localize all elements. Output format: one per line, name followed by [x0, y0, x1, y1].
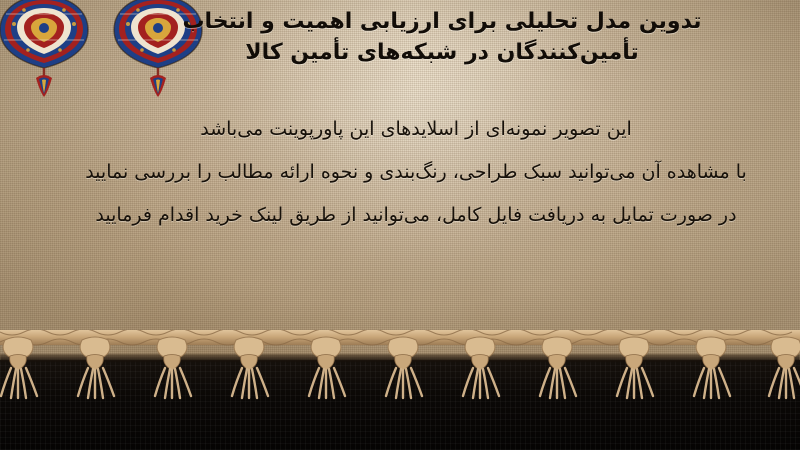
slide-title-line-2: تأمین‌کنندگان در شبکه‌های تأمین کالا	[112, 37, 772, 68]
slide-body-line-1: این تصویر نمونه‌ای از اسلایدهای این پاور…	[66, 108, 766, 151]
slide-title: تدوین مدل تحلیلی برای ارزیابی اهمیت و ان…	[112, 6, 772, 68]
presentation-slide: تدوین مدل تحلیلی برای ارزیابی اهمیت و ان…	[0, 0, 800, 450]
slide-body: این تصویر نمونه‌ای از اسلایدهای این پاور…	[66, 108, 766, 236]
slide-body-line-2: با مشاهده آن می‌توانید سبک طراحی، رنگ‌بن…	[66, 151, 766, 194]
slide-title-line-1: تدوین مدل تحلیلی برای ارزیابی اهمیت و ان…	[112, 6, 772, 37]
slide-text-layer: تدوین مدل تحلیلی برای ارزیابی اهمیت و ان…	[0, 0, 800, 450]
slide-body-line-3: در صورت تمایل به دریافت فایل کامل، می‌تو…	[66, 194, 766, 237]
